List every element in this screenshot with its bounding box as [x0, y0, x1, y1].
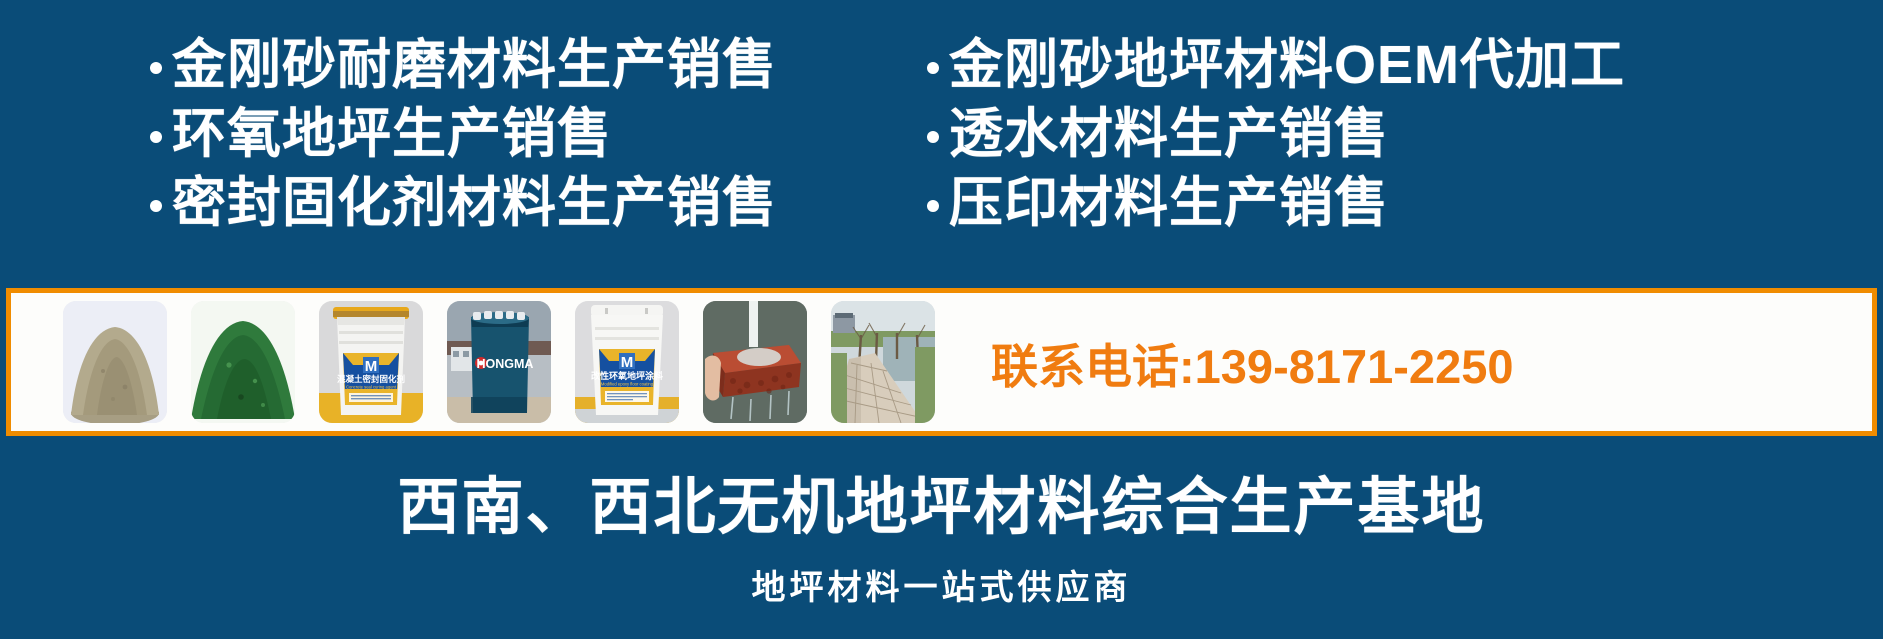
- service-label: 透水材料生产销售: [949, 107, 1389, 162]
- service-label: 压印材料生产销售: [949, 176, 1389, 231]
- service-item: 压印材料生产销售: [927, 176, 1883, 231]
- svg-text:M: M: [621, 354, 634, 371]
- svg-text:Concrete seal curing agent: Concrete seal curing agent: [346, 385, 397, 390]
- bullet-dot-icon: [150, 62, 162, 74]
- bullet-dot-icon: [150, 200, 162, 212]
- bottom-section: 西南、西北无机地坪材料综合生产基地 地坪材料一站式供应商: [0, 440, 1883, 639]
- blue-drum-photo: HONGMA: [447, 301, 551, 423]
- svg-text:改性环氧地坪涂料: 改性环氧地坪涂料: [591, 370, 663, 381]
- promo-banner: 金刚砂耐磨材料生产销售 环氧地坪生产销售 密封固化剂材料生产销售 金刚砂地坪材料…: [0, 0, 1883, 639]
- product-thumbnail-curing-agent-bucket: M 混凝土密封固化剂 Concrete seal curing agent: [319, 301, 423, 423]
- product-thumbnail-epoxy-coating-bucket: M 改性环氧地坪涂料 Modified epoxy floor coating: [575, 301, 679, 423]
- bullet-dot-icon: [927, 131, 939, 143]
- contact-phone[interactable]: 联系电话:139-8171-2250: [991, 328, 1514, 397]
- service-label: 环氧地坪生产销售: [172, 107, 612, 162]
- white-blue-bucket-photo: M 改性环氧地坪涂料 Modified epoxy floor coating: [575, 301, 679, 423]
- svg-text:M: M: [365, 358, 378, 375]
- permeable-concrete-sample-photo: [703, 301, 807, 423]
- white-yellow-bucket-photo: M 混凝土密封固化剂 Concrete seal curing agent: [319, 301, 423, 423]
- service-item: 金刚砂耐磨材料生产销售: [150, 38, 905, 93]
- product-thumbnail-hongma-drum: HONGMA: [447, 301, 551, 423]
- product-thumbnail-green-powder: [191, 301, 295, 423]
- services-section: 金刚砂耐磨材料生产销售 环氧地坪生产销售 密封固化剂材料生产销售 金刚砂地坪材料…: [0, 0, 1883, 288]
- subheadline: 地坪材料一站式供应商: [752, 560, 1132, 609]
- bullet-dot-icon: [927, 200, 939, 212]
- green-powder-heap-photo: [191, 301, 295, 423]
- service-item: 环氧地坪生产销售: [150, 107, 905, 162]
- service-label: 金刚砂耐磨材料生产销售: [172, 38, 777, 93]
- service-label: 密封固化剂材料生产销售: [172, 176, 777, 231]
- services-right-column: 金刚砂地坪材料OEM代加工 透水材料生产销售 压印材料生产销售: [905, 38, 1883, 288]
- product-thumbnail-gray-powder: [63, 301, 167, 423]
- product-strip: M 混凝土密封固化剂 Concrete seal curing agent: [6, 288, 1877, 436]
- product-thumbnail-list: M 混凝土密封固化剂 Concrete seal curing agent: [63, 301, 935, 423]
- headline: 西南、西北无机地坪材料综合生产基地: [397, 456, 1485, 546]
- bullet-dot-icon: [927, 62, 939, 74]
- product-strip-wrapper: M 混凝土密封固化剂 Concrete seal curing agent: [0, 288, 1883, 440]
- stamped-concrete-walkway-photo: [831, 301, 935, 423]
- product-thumbnail-permeable-concrete: [703, 301, 807, 423]
- gray-powder-heap-photo: [63, 301, 167, 423]
- service-label: 金刚砂地坪材料OEM代加工: [949, 38, 1625, 93]
- svg-text:HONGMA: HONGMA: [477, 357, 534, 371]
- svg-text:Modified epoxy floor coating: Modified epoxy floor coating: [601, 382, 654, 387]
- product-thumbnail-stamped-walkway: [831, 301, 935, 423]
- service-item: 透水材料生产销售: [927, 107, 1883, 162]
- service-item: 密封固化剂材料生产销售: [150, 176, 905, 231]
- service-item: 金刚砂地坪材料OEM代加工: [927, 38, 1883, 93]
- svg-text:混凝土密封固化剂: 混凝土密封固化剂: [337, 374, 405, 384]
- services-left-column: 金刚砂耐磨材料生产销售 环氧地坪生产销售 密封固化剂材料生产销售: [0, 38, 905, 288]
- bullet-dot-icon: [150, 131, 162, 143]
